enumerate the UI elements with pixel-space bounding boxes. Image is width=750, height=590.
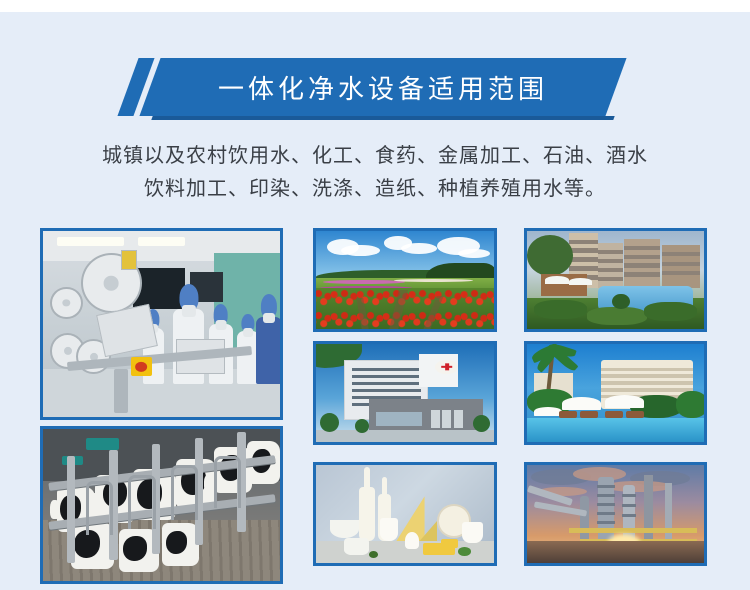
dairy-farm-photo	[43, 429, 280, 581]
factory-photo	[43, 231, 280, 417]
dairy-products-photo	[316, 465, 494, 563]
flower-field-photo	[316, 231, 494, 329]
residential-photo	[527, 231, 704, 329]
gallery-image-hospital[interactable]	[313, 341, 497, 445]
gallery-image-dairy-products[interactable]	[313, 462, 497, 566]
page-root: 一体化净水设备适用范围 城镇以及农村饮用水、化工、食药、金属加工、石油、酒水 饮…	[0, 0, 750, 590]
gallery-image-resort[interactable]	[524, 341, 707, 445]
gallery-image-residential[interactable]	[524, 228, 707, 332]
resort-photo	[527, 344, 704, 442]
refinery-photo	[527, 465, 704, 563]
image-gallery	[0, 0, 750, 590]
gallery-image-flower-field[interactable]	[313, 228, 497, 332]
gallery-image-refinery[interactable]	[524, 462, 707, 566]
gallery-image-dairy-farm[interactable]	[40, 426, 283, 584]
hospital-photo	[316, 344, 494, 442]
gallery-image-factory[interactable]	[40, 228, 283, 420]
